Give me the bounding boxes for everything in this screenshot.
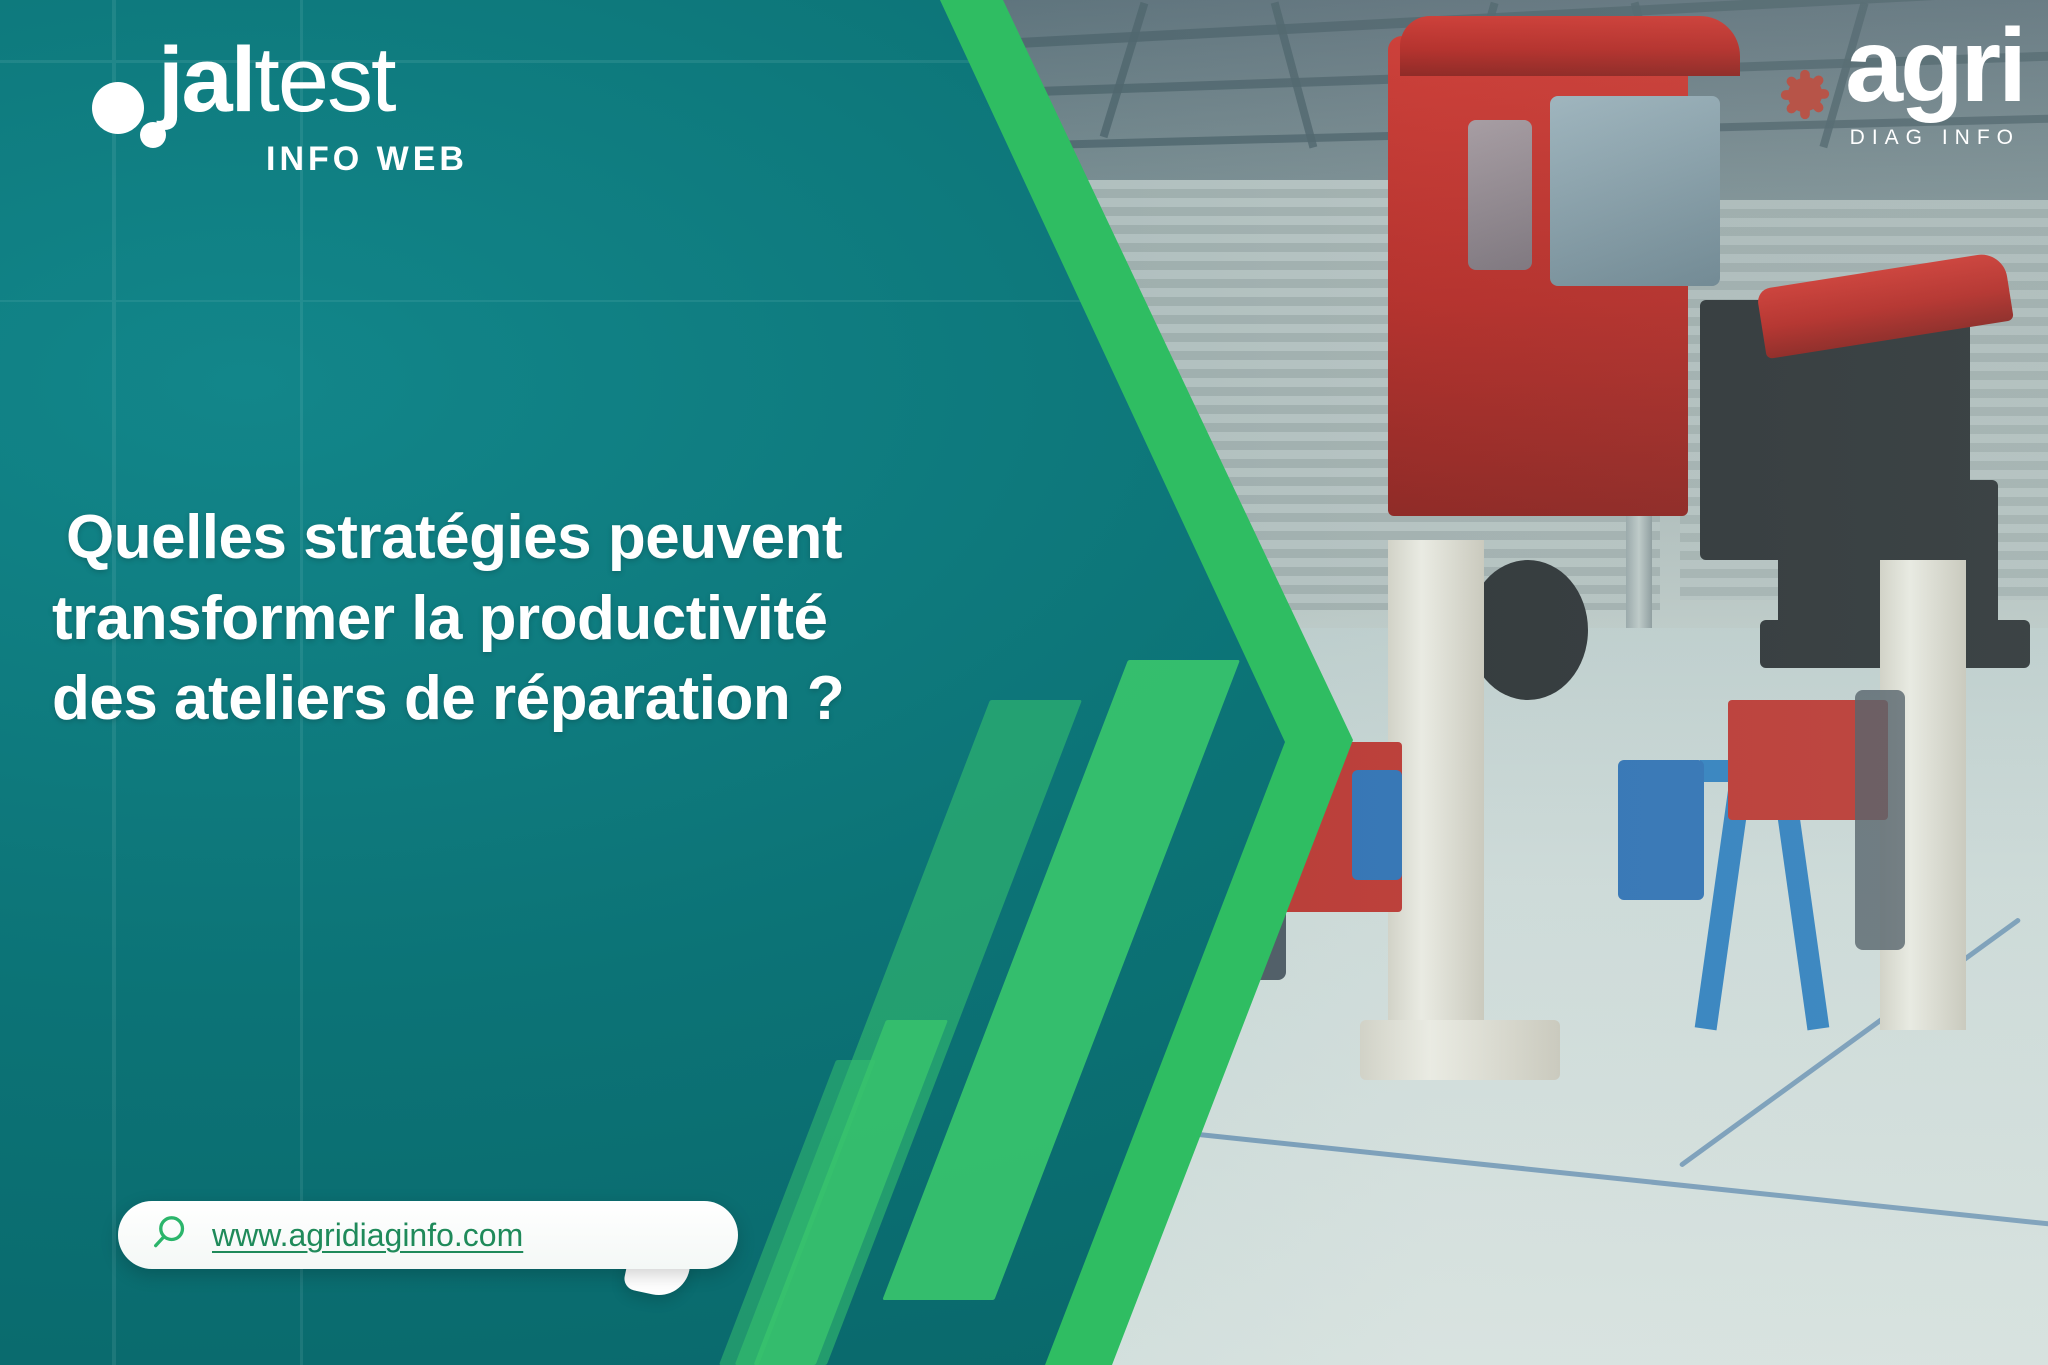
page-title: Quelles stratégies peuvent transformer l… <box>52 498 1072 740</box>
jaltest-wordmark-bold: jal <box>158 29 254 131</box>
website-url-text[interactable]: www.agridiaginfo.com <box>212 1217 523 1254</box>
jaltest-wordmark: jaltest <box>158 34 395 126</box>
agri-subtitle: DIAG INFO <box>1850 126 2020 150</box>
headline-line-3: des ateliers de réparation ? <box>52 659 1072 740</box>
jaltest-wordmark-thin: test <box>254 29 394 131</box>
agri-diag-info-logo[interactable]: agri DIAG INFO <box>1754 26 2024 152</box>
jaltest-logo[interactable]: jaltest INFO WEB <box>78 34 498 174</box>
poster-canvas: jaltest INFO WEB agri DIAG INFO Quelles … <box>0 0 2048 1365</box>
headline-line-1: Quelles stratégies peuvent <box>52 498 1072 579</box>
jaltest-dot-large-icon <box>92 82 144 134</box>
jaltest-subtitle: INFO WEB <box>266 140 468 179</box>
gear-icon <box>1776 66 1834 129</box>
website-url-bar[interactable]: www.agridiaginfo.com <box>118 1201 738 1269</box>
search-icon <box>148 1212 190 1259</box>
agri-wordmark: agri <box>1845 14 2024 118</box>
headline-line-2: transformer la productivité <box>52 579 1072 660</box>
